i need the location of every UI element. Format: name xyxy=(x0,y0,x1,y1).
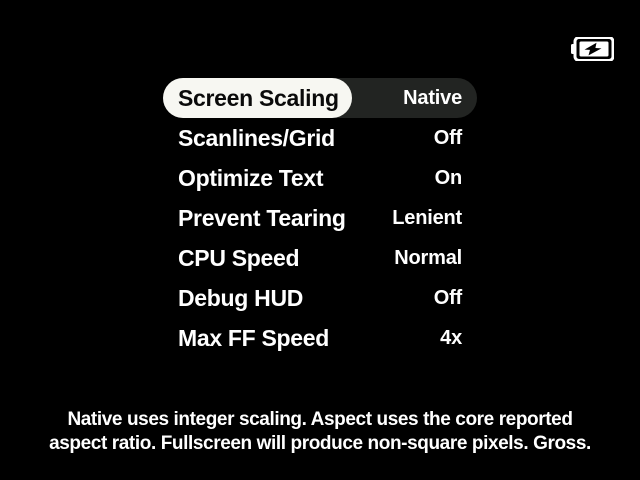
settings-screen: Screen Scaling Native Scanlines/Grid Off… xyxy=(0,0,640,480)
menu-item-value[interactable]: Normal xyxy=(394,248,462,268)
menu-item-scanlines-grid[interactable]: Scanlines/Grid Off xyxy=(163,118,477,158)
help-line-1: Native uses integer scaling. Aspect uses… xyxy=(18,408,622,432)
menu-item-cpu-speed[interactable]: CPU Speed Normal xyxy=(163,238,477,278)
menu-item-value[interactable]: Off xyxy=(434,288,462,308)
menu-item-value[interactable]: Native xyxy=(403,88,462,108)
menu-item-label: Optimize Text xyxy=(178,167,323,190)
menu-item-optimize-text[interactable]: Optimize Text On xyxy=(163,158,477,198)
menu-item-value[interactable]: On xyxy=(435,168,462,188)
menu-item-value[interactable]: Off xyxy=(434,128,462,148)
menu-item-max-ff-speed[interactable]: Max FF Speed 4x xyxy=(163,318,477,358)
menu-item-label: CPU Speed xyxy=(178,247,299,270)
battery-charging-icon xyxy=(571,37,614,61)
menu-item-label: Screen Scaling xyxy=(178,87,339,110)
menu-item-label: Scanlines/Grid xyxy=(178,127,335,150)
menu-item-label: Prevent Tearing xyxy=(178,207,346,230)
menu-item-label: Max FF Speed xyxy=(178,327,329,350)
help-line-2: aspect ratio. Fullscreen will produce no… xyxy=(18,432,622,456)
menu-item-debug-hud[interactable]: Debug HUD Off xyxy=(163,278,477,318)
status-bar xyxy=(0,0,640,72)
menu-item-screen-scaling[interactable]: Screen Scaling Native xyxy=(163,78,477,118)
menu-item-value[interactable]: Lenient xyxy=(392,208,462,228)
menu-item-prevent-tearing[interactable]: Prevent Tearing Lenient xyxy=(163,198,477,238)
menu-item-label: Debug HUD xyxy=(178,287,303,310)
menu-item-value[interactable]: 4x xyxy=(440,328,462,348)
help-description: Native uses integer scaling. Aspect uses… xyxy=(0,408,640,456)
settings-menu-list[interactable]: Screen Scaling Native Scanlines/Grid Off… xyxy=(163,78,477,358)
